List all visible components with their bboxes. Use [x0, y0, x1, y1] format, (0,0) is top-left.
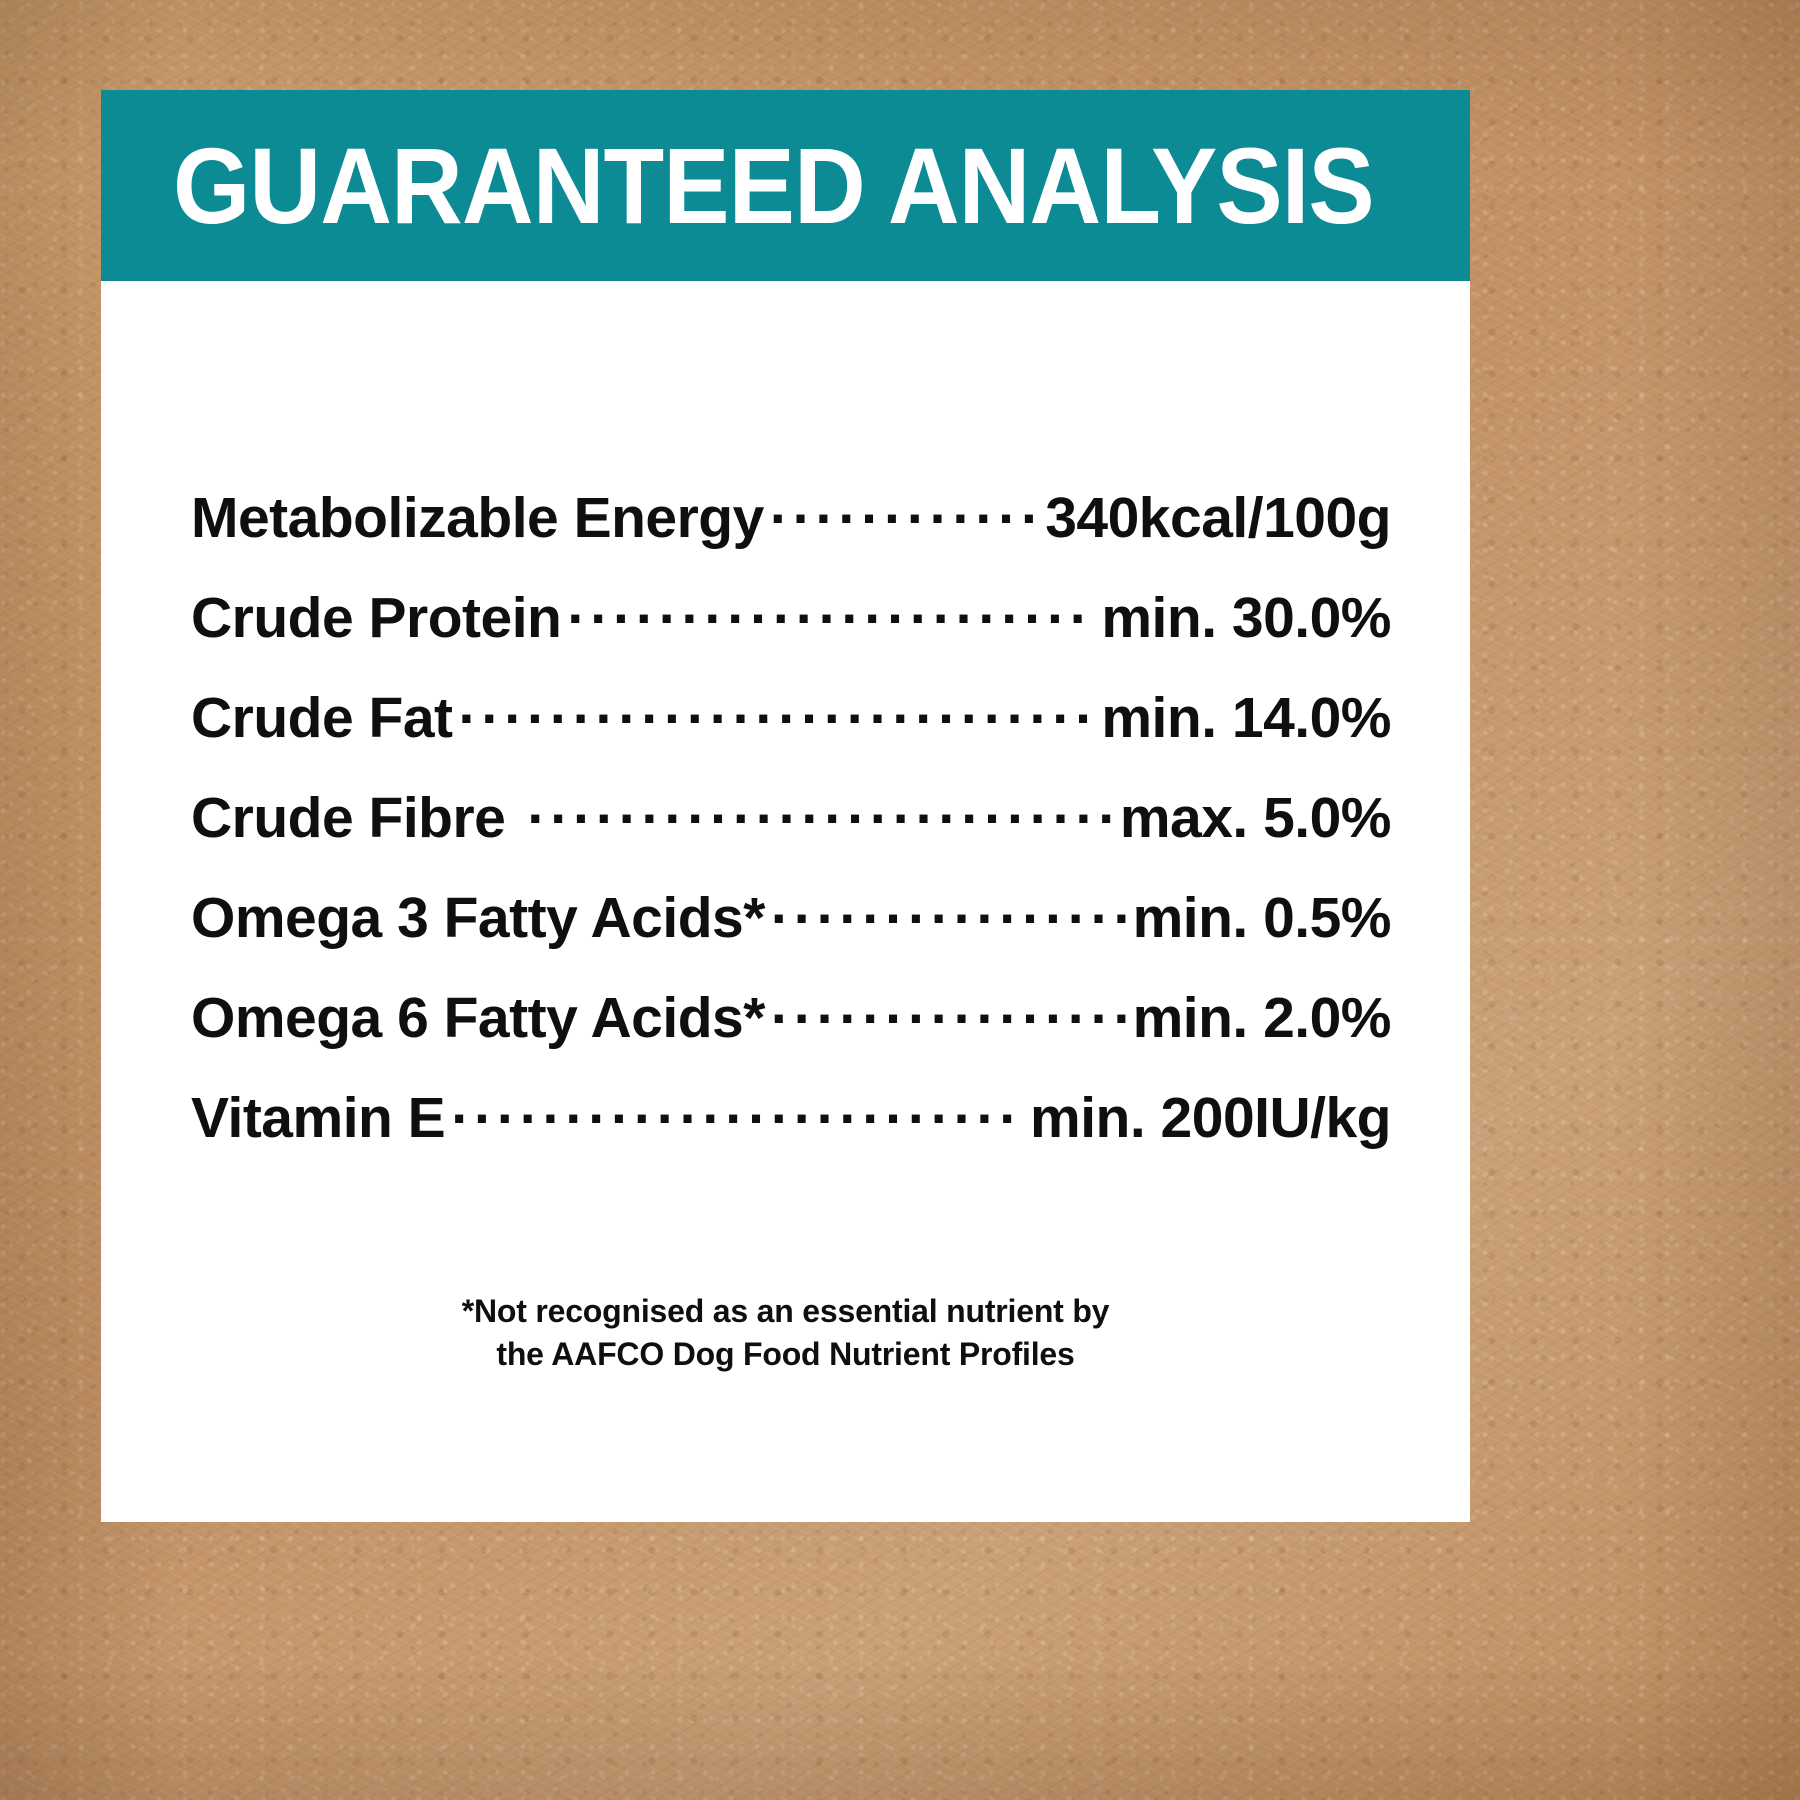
nutrient-row-omega-3-fatty-acids: Omega 3 Fatty Acids* min. 0.5% [191, 880, 1391, 980]
guaranteed-analysis-panel: GUARANTEED ANALYSIS Metabolizable Energy… [101, 90, 1470, 1522]
nutrient-value: min. 0.5% [1133, 885, 1391, 951]
nutrient-value: min. 14.0% [1101, 685, 1391, 751]
leader-dots [527, 780, 1113, 837]
nutrient-label: Omega 6 Fatty Acids* [191, 985, 765, 1051]
nutrient-label: Crude Fibre [191, 785, 505, 851]
footnote-line-1: *Not recognised as an essential nutrient… [101, 1290, 1470, 1333]
nutrient-label: Vitamin E [191, 1085, 445, 1151]
nutrient-value: max. 5.0% [1120, 785, 1391, 851]
nutrient-label: Crude Protein [191, 585, 561, 651]
nutrient-row-crude-protein: Crude Protein min. 30.0% [191, 580, 1391, 680]
leader-dots [771, 980, 1127, 1037]
nutrient-row-omega-6-fatty-acids: Omega 6 Fatty Acids* min. 2.0% [191, 980, 1391, 1080]
nutrient-row-crude-fibre: Crude Fibre max. 5.0% [191, 780, 1391, 880]
leader-dots [770, 480, 1039, 537]
nutrient-label: Crude Fat [191, 685, 453, 751]
footnote-line-2: the AAFCO Dog Food Nutrient Profiles [101, 1333, 1470, 1376]
leader-dots [451, 1080, 1024, 1137]
nutrient-row-vitamin-e: Vitamin E min. 200IU/kg [191, 1080, 1391, 1180]
nutrient-row-metabolizable-energy: Metabolizable Energy 340kcal/100g [191, 480, 1391, 580]
nutrient-value: min. 30.0% [1101, 585, 1391, 651]
nutrient-label: Omega 3 Fatty Acids* [191, 885, 765, 951]
header-banner: GUARANTEED ANALYSIS [101, 90, 1470, 281]
footnote: *Not recognised as an essential nutrient… [101, 1290, 1470, 1376]
leader-dots [567, 580, 1095, 637]
nutrient-list: Metabolizable Energy 340kcal/100g Crude … [191, 412, 1391, 1180]
page-title: GUARANTEED ANALYSIS [173, 132, 1374, 240]
leader-dots [459, 680, 1096, 737]
leader-dots [771, 880, 1127, 937]
nutrient-label: Metabolizable Energy [191, 485, 764, 551]
nutrient-row-crude-fat: Crude Fat min. 14.0% [191, 680, 1391, 780]
nutrient-value: min. 200IU/kg [1030, 1085, 1391, 1151]
nutrient-value: 340kcal/100g [1045, 485, 1391, 551]
nutrient-value: min. 2.0% [1133, 985, 1391, 1051]
